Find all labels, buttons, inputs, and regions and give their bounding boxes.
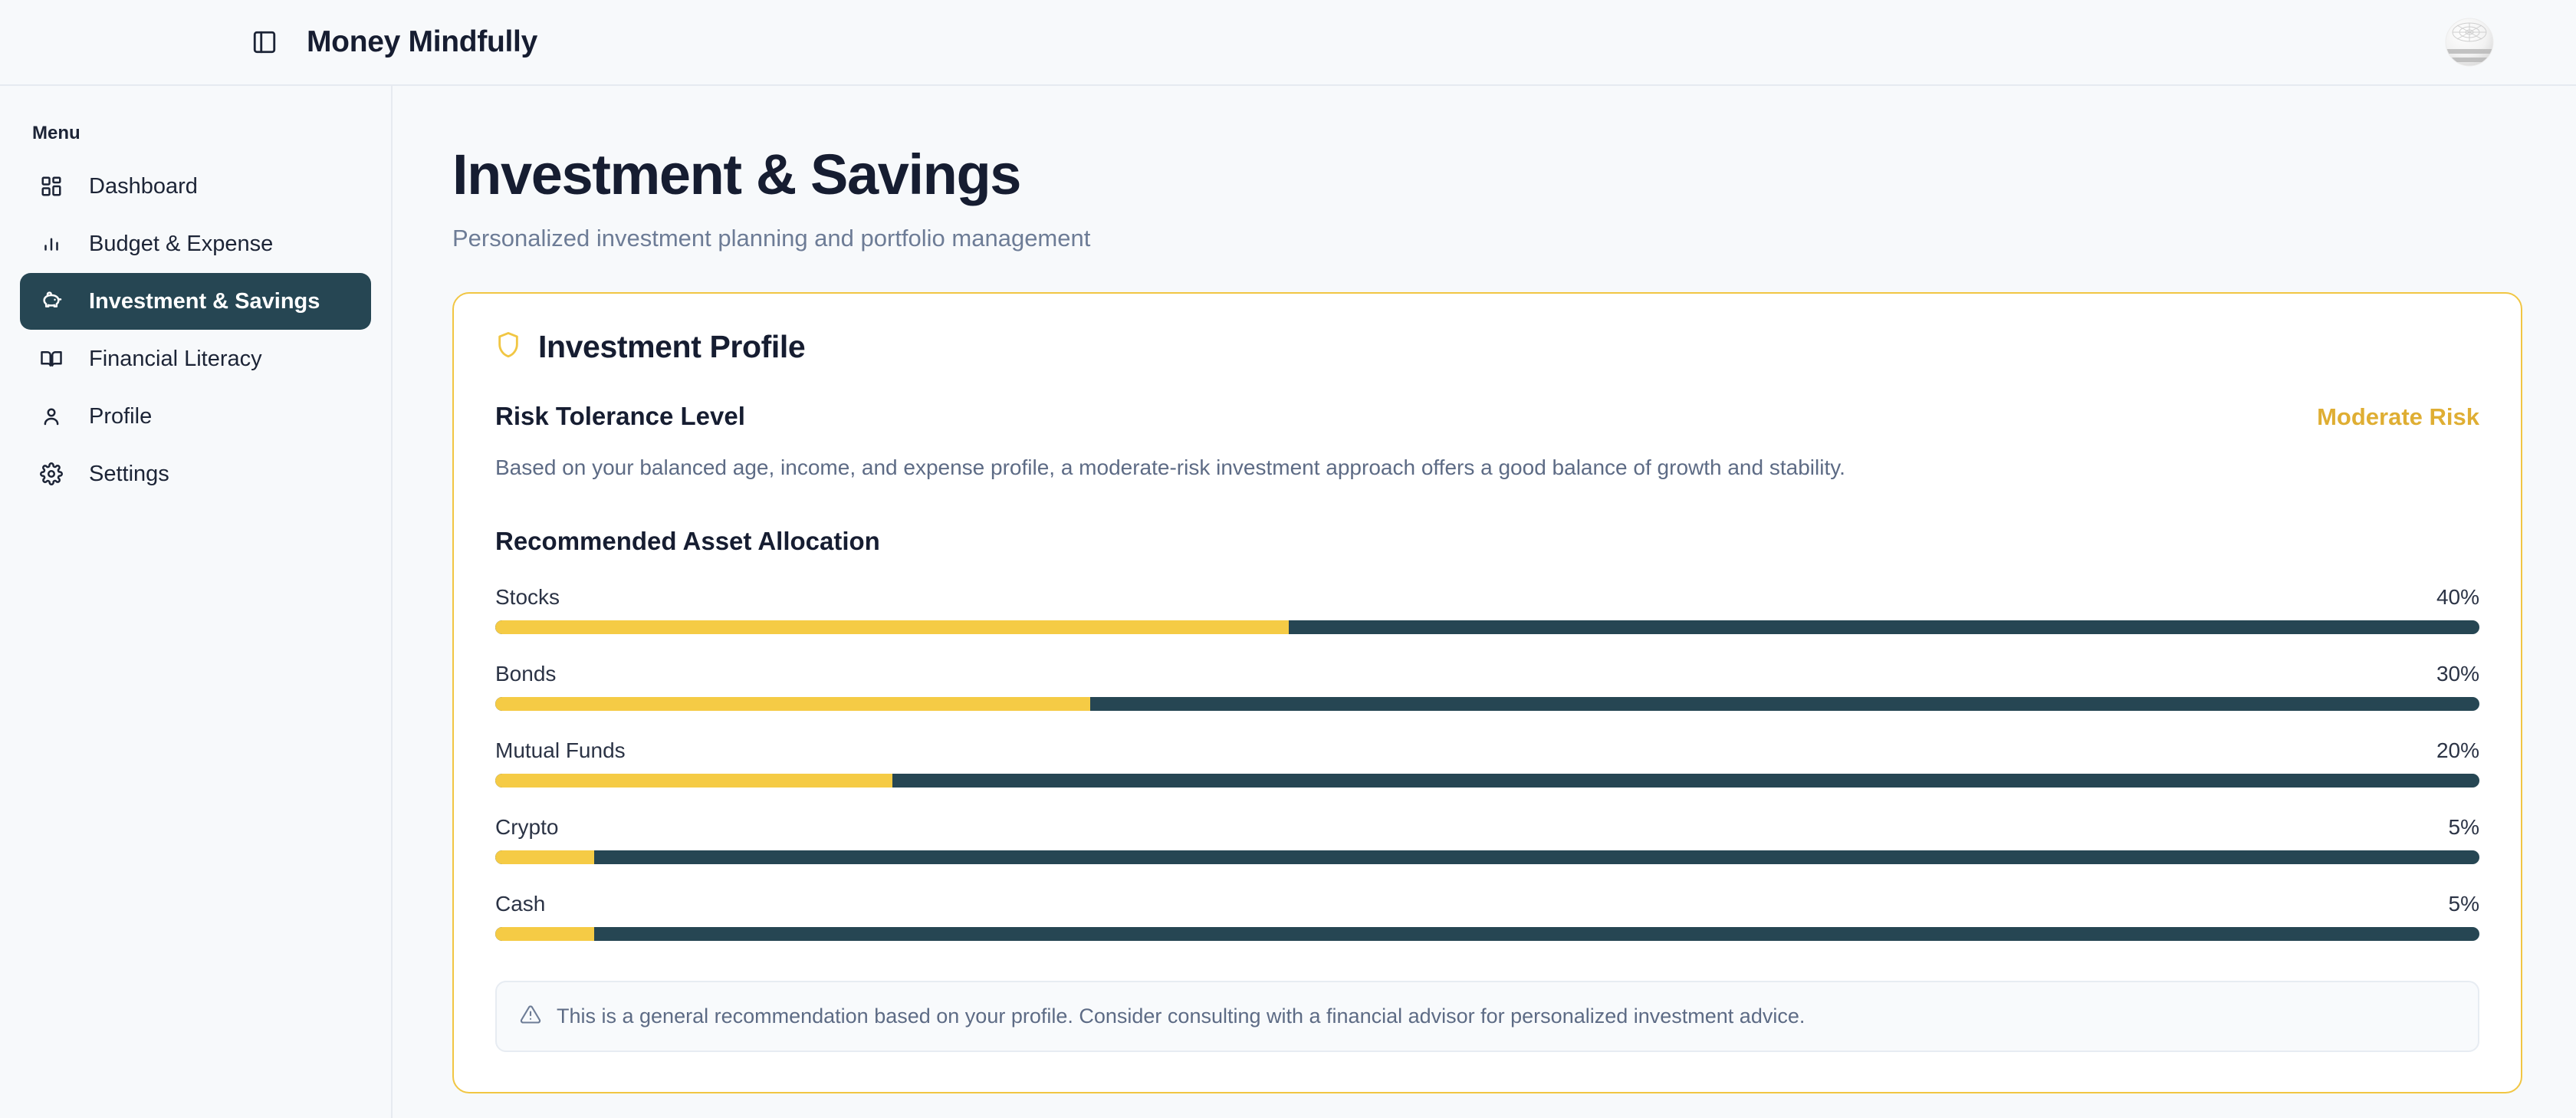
allocation-label: Crypto: [495, 815, 558, 840]
allocation-list: Stocks 40% Bonds 30%: [495, 585, 2479, 941]
allocation-value: 40%: [2436, 585, 2479, 610]
card-title: Investment Profile: [538, 329, 805, 365]
body-row: Menu Dashboard: [0, 86, 2576, 1118]
allocation-bar-track: [495, 774, 2479, 788]
sidebar-item-profile[interactable]: Profile: [20, 388, 371, 445]
risk-description: Based on your balanced age, income, and …: [495, 452, 2479, 484]
shield-icon: [495, 330, 521, 363]
panel-left-icon[interactable]: [244, 21, 285, 63]
investment-profile-card: Investment Profile Risk Tolerance Level …: [452, 292, 2522, 1093]
card-header: Investment Profile: [495, 329, 2479, 365]
allocation-heading: Recommended Asset Allocation: [495, 527, 2479, 556]
main-content: Investment & Savings Personalized invest…: [393, 86, 2576, 1118]
bar-chart-icon: [37, 229, 66, 258]
layout-grid-icon: [37, 172, 66, 201]
allocation-label: Cash: [495, 892, 545, 916]
allocation-label: Stocks: [495, 585, 560, 610]
top-bar: Money Mindfully: [0, 0, 2576, 86]
sidebar-item-label: Budget & Expense: [89, 232, 273, 257]
sidebar-item-investment-savings[interactable]: Investment & Savings: [20, 273, 371, 330]
allocation-bar-fill: [495, 850, 594, 864]
allocation-value: 30%: [2436, 662, 2479, 686]
sidebar: Menu Dashboard: [0, 86, 393, 1118]
page-title: Investment & Savings: [452, 146, 2522, 205]
allocation-label: Mutual Funds: [495, 738, 626, 763]
status-badge: Moderate Risk: [2317, 403, 2479, 431]
allocation-value: 20%: [2436, 738, 2479, 763]
allocation-bar-fill: [495, 774, 892, 788]
risk-tolerance-heading: Risk Tolerance Level: [495, 402, 745, 431]
allocation-bar-track: [495, 850, 2479, 864]
sidebar-item-label: Profile: [89, 404, 152, 429]
allocation-bar-track: [495, 927, 2479, 941]
allocation-value: 5%: [2449, 815, 2479, 840]
allocation-row: Crypto 5%: [495, 815, 2479, 864]
user-icon: [37, 402, 66, 431]
brand-title: Money Mindfully: [307, 25, 537, 59]
page-subtitle: Personalized investment planning and por…: [452, 225, 2522, 252]
piggy-bank-icon: [37, 287, 66, 316]
sidebar-item-financial-literacy[interactable]: Financial Literacy: [20, 330, 371, 387]
allocation-bar-track: [495, 697, 2479, 711]
allocation-bar-fill: [495, 927, 594, 941]
allocation-row: Bonds 30%: [495, 662, 2479, 711]
risk-tolerance-row: Risk Tolerance Level Moderate Risk: [495, 402, 2479, 431]
sidebar-item-dashboard[interactable]: Dashboard: [20, 158, 371, 215]
sidebar-section-label: Menu: [20, 107, 371, 158]
allocation-bar-fill: [495, 620, 1289, 634]
sidebar-item-label: Financial Literacy: [89, 347, 262, 372]
allocation-label: Bonds: [495, 662, 556, 686]
sidebar-item-label: Investment & Savings: [89, 289, 320, 314]
allocation-row: Cash 5%: [495, 892, 2479, 941]
gear-icon: [37, 459, 66, 488]
sidebar-item-budget-expense[interactable]: Budget & Expense: [20, 215, 371, 272]
warning-triangle-icon: [520, 1004, 541, 1029]
book-open-icon: [37, 344, 66, 373]
disclaimer-text: This is a general recommendation based o…: [557, 1002, 1805, 1031]
disclaimer-note: This is a general recommendation based o…: [495, 981, 2479, 1053]
user-avatar[interactable]: [2436, 9, 2502, 75]
allocation-row: Mutual Funds 20%: [495, 738, 2479, 788]
sidebar-item-label: Dashboard: [89, 174, 198, 199]
allocation-value: 5%: [2449, 892, 2479, 916]
allocation-bar-track: [495, 620, 2479, 634]
sidebar-item-label: Settings: [89, 462, 169, 487]
allocation-row: Stocks 40%: [495, 585, 2479, 634]
sidebar-item-settings[interactable]: Settings: [20, 446, 371, 502]
allocation-bar-fill: [495, 697, 1090, 711]
app-root: Money Mindfully: [0, 0, 2576, 1118]
